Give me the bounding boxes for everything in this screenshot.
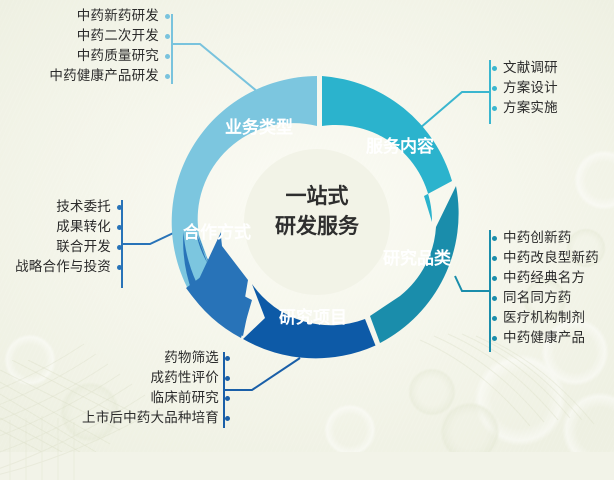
list-item[interactable]: 中药二次开发 xyxy=(0,26,170,46)
list-item[interactable]: 同名同方药 xyxy=(492,288,614,308)
bullet-dot-icon xyxy=(225,356,230,361)
connector-business-type xyxy=(172,14,258,92)
list-item-label: 成药性评价 xyxy=(145,368,226,388)
list-item-label: 中药新药研发 xyxy=(71,6,165,26)
list-item-label: 中药二次开发 xyxy=(71,26,165,46)
bullet-dot-icon xyxy=(117,265,122,270)
bullet-dot-icon xyxy=(165,54,170,59)
bullet-dot-icon xyxy=(165,34,170,39)
segment-label-research-category: 研究品类 xyxy=(383,248,452,268)
bullet-dot-icon xyxy=(225,416,230,421)
list-item-label: 同名同方药 xyxy=(497,288,578,308)
label-group-service-content: 文献调研 方案设计 方案实施 xyxy=(492,58,614,118)
list-item-label: 文献调研 xyxy=(497,58,564,78)
connector-service-content xyxy=(420,60,490,128)
list-item[interactable]: 中药经典名方 xyxy=(492,268,614,288)
list-item[interactable]: 中药质量研究 xyxy=(0,46,170,66)
list-item-label: 临床前研究 xyxy=(145,388,226,408)
list-item[interactable]: 联合开发 xyxy=(0,237,122,257)
bullet-dot-icon xyxy=(225,376,230,381)
list-item-label: 中药经典名方 xyxy=(497,268,591,288)
list-item[interactable]: 药物筛选 xyxy=(18,348,230,368)
list-item[interactable]: 中药创新药 xyxy=(492,228,614,248)
list-item-label: 方案实施 xyxy=(497,98,564,118)
list-item-label: 药物筛选 xyxy=(158,348,225,368)
center-title-line1: 一站式 xyxy=(286,184,349,208)
list-item[interactable]: 中药改良型新药 xyxy=(492,248,614,268)
list-item[interactable]: 上市后中药大品种培育 xyxy=(18,408,230,428)
list-item[interactable]: 临床前研究 xyxy=(18,388,230,408)
label-group-cooperation-mode: 技术委托 成果转化 联合开发 战略合作与投资 xyxy=(0,197,122,277)
list-item[interactable]: 方案实施 xyxy=(492,98,614,118)
infographic-canvas: 业务类型 服务内容 研究品类 研究项目 合作方式 一站式 研发服务 中药新药研发… xyxy=(0,0,614,452)
list-item[interactable]: 成果转化 xyxy=(0,217,122,237)
bullet-dot-icon xyxy=(117,245,122,250)
label-group-business-type: 中药新药研发 中药二次开发 中药质量研究 中药健康产品研发 xyxy=(0,6,170,86)
list-item-label: 战略合作与投资 xyxy=(9,257,117,277)
list-item-label: 联合开发 xyxy=(50,237,117,257)
segment-label-cooperation-mode: 合作方式 xyxy=(183,222,251,242)
bullet-dot-icon xyxy=(225,396,230,401)
list-item-label: 医疗机构制剂 xyxy=(497,308,591,328)
list-item-label: 方案设计 xyxy=(497,78,564,98)
list-item[interactable]: 方案设计 xyxy=(492,78,614,98)
list-item-label: 上市后中药大品种培育 xyxy=(76,408,225,428)
list-item-label: 中药健康产品 xyxy=(497,328,591,348)
bullet-dot-icon xyxy=(117,225,122,230)
list-item[interactable]: 中药新药研发 xyxy=(0,6,170,26)
bullet-dot-icon xyxy=(165,14,170,19)
center-title-line2: 研发服务 xyxy=(275,214,360,238)
list-item-label: 技术委托 xyxy=(50,197,117,217)
list-item[interactable]: 成药性评价 xyxy=(18,368,230,388)
list-item-label: 中药健康产品研发 xyxy=(43,66,165,86)
label-group-research-category: 中药创新药 中药改良型新药 中药经典名方 同名同方药 医疗机构制剂 中药健康产品 xyxy=(492,228,614,348)
list-item-label: 成果转化 xyxy=(50,217,117,237)
connector-research-project xyxy=(224,352,300,428)
connector-research-category xyxy=(455,230,490,352)
list-item[interactable]: 中药健康产品研发 xyxy=(0,66,170,86)
list-item[interactable]: 文献调研 xyxy=(492,58,614,78)
list-item-label: 中药改良型新药 xyxy=(497,248,605,268)
segment-label-service-content: 服务内容 xyxy=(366,136,434,156)
list-item[interactable]: 中药健康产品 xyxy=(492,328,614,348)
segment-label-research-project: 研究项目 xyxy=(279,307,347,327)
label-group-research-project: 药物筛选 成药性评价 临床前研究 上市后中药大品种培育 xyxy=(18,348,230,428)
list-item[interactable]: 技术委托 xyxy=(0,197,122,217)
bullet-dot-icon xyxy=(117,205,122,210)
list-item-label: 中药质量研究 xyxy=(71,46,165,66)
segment-label-business-type: 业务类型 xyxy=(225,117,293,137)
bullet-dot-icon xyxy=(165,74,170,79)
list-item[interactable]: 医疗机构制剂 xyxy=(492,308,614,328)
list-item-label: 中药创新药 xyxy=(497,228,578,248)
list-item[interactable]: 战略合作与投资 xyxy=(0,257,122,277)
